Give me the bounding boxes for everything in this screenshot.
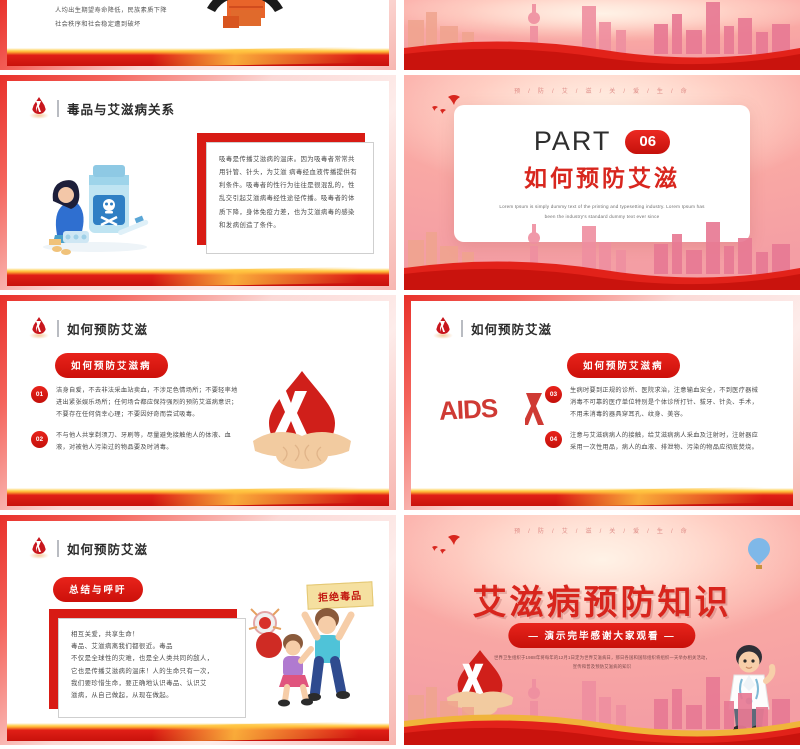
- header-divider: [57, 540, 59, 557]
- slide-header: 如何预防艾滋: [411, 301, 793, 339]
- header-divider: [461, 320, 463, 337]
- slide-part-06[interactable]: 预 / 防 / 艾 / 滋 / 关 / 爱 / 生 / 命 PART 06 如何…: [404, 75, 800, 290]
- summary-line: 毒品、艾滋病离我们都很近。毒品: [71, 641, 233, 653]
- section-pill-wrap: 如何预防艾滋病: [567, 353, 680, 378]
- summary-line: 不仅是全球性的灾难，也是全人类共同的敌人，: [71, 653, 233, 665]
- list-item[interactable]: 04 注意与艾滋病病人的接触，给艾滋病病人采血及注射时，注射器应采用一次性用品，…: [545, 430, 763, 454]
- numbered-list: 03 生病时要到正规的诊所、医院求治，注意输血安全，不到医疗器械消毒不可靠的医疗…: [545, 385, 763, 463]
- red-wave-decoration: [404, 256, 800, 290]
- final-pill: — 演示完毕感谢大家观看 —: [508, 623, 695, 648]
- red-wave-decoration: [404, 36, 800, 70]
- item-text: 不与他人共享剃须刀、牙刷等，尽量避免接触他人的体液、血液，对被他人污染过的物品要…: [56, 430, 241, 454]
- paragraph-box: 吸毒是传播艾滋病的温床。因为吸毒者常常共用针管、针头，为艾滋 病毒经血液传播提供…: [197, 133, 365, 245]
- section-pill: 如何预防艾滋病: [55, 353, 168, 378]
- item-text: 生病时要到正规的诊所、医院求治，注意输血安全，不到医疗器械消毒不可靠的医疗单位特…: [570, 385, 763, 421]
- list-item[interactable]: 03 生病时要到正规的诊所、医院求治，注意输血安全，不到医疗器械消毒不可靠的医疗…: [545, 385, 763, 421]
- slide-header: 如何预防艾滋: [7, 301, 389, 339]
- slide-prevent-1[interactable]: 如何预防艾滋 如何预防艾滋病 01 洁身自爱，不去非法采血站卖血，不涉足色情场所…: [0, 295, 396, 510]
- aids-word-ribbon-icon: AIDS: [439, 393, 549, 433]
- list-item[interactable]: 01 洁身自爱，不去非法采血站卖血，不涉足色情场所；不要轻率地进出紧张娱乐场所；…: [31, 385, 241, 421]
- part-heading-row: PART 06: [534, 126, 670, 157]
- part-word: PART: [534, 126, 612, 157]
- slide-cut-top-right[interactable]: [404, 0, 800, 70]
- slide-summary[interactable]: 如何预防艾滋 总结与呼吁 相互关爱，共享生命！ 毒品、艾滋病离我们都很近。毒品 …: [0, 515, 396, 745]
- section-pill: 如何预防艾滋病: [567, 353, 680, 378]
- slide-body: 毒品与艾滋病关系: [7, 81, 389, 286]
- red-ribbon-icon: [433, 317, 453, 339]
- slide-body: 如何预防艾滋 总结与呼吁 相互关爱，共享生命！ 毒品、艾滋病离我们都很近。毒品 …: [7, 521, 389, 741]
- final-title: 艾滋病预防知识: [404, 575, 800, 624]
- part-subtitle: 如何预防艾滋: [524, 159, 680, 193]
- kids-figures-icon: [235, 583, 375, 713]
- summary-text: 相互关爱，共享生命！ 毒品、艾滋病离我们都很近。毒品 不仅是全球性的灾难，也是全…: [58, 618, 246, 718]
- item-number: 04: [545, 431, 562, 448]
- list-item[interactable]: 02 不与他人共享剃须刀、牙刷等，尽量避免接触他人的体液、血液，对被他人污染过的…: [31, 430, 241, 454]
- numbered-list: 01 洁身自爱，不去非法采血站卖血，不涉足色情场所；不要轻率地进出紧张娱乐场所；…: [31, 385, 241, 463]
- section-pill-wrap: 总结与呼吁: [53, 577, 143, 602]
- summary-box: 相互关爱，共享生命！ 毒品、艾滋病离我们都很近。毒品 不仅是全球性的灾难，也是全…: [49, 609, 237, 709]
- slide-title: 如何预防艾滋: [471, 319, 552, 338]
- slide-body: 人均出生期望寿命降低，民族素质下降 社会秩序和社会稳定遭到破坏: [7, 0, 389, 66]
- slide-drugs-aids-relation[interactable]: 毒品与艾滋病关系: [0, 75, 396, 290]
- red-ribbon-icon: [29, 97, 49, 119]
- section-pill-wrap: 如何预防艾滋病: [55, 353, 168, 378]
- summary-line: 滋病，从自己做起，从现在做起。: [71, 690, 233, 702]
- birds-icon: [426, 533, 486, 555]
- hot-air-balloon-icon: [746, 537, 772, 571]
- item-text: 注意与艾滋病病人的接触，给艾滋病病人采血及注射时，注射器应采用一次性用品，病人的…: [570, 430, 763, 454]
- slide-title: 如何预防艾滋: [67, 539, 148, 558]
- red-wave-decoration: [404, 711, 800, 745]
- kids-refuse-drugs-illustration: 拒绝毒品: [235, 583, 375, 713]
- slide-cut-top-left[interactable]: 人均出生期望寿命降低，民族素质下降 社会秩序和社会稳定遭到破坏: [0, 0, 396, 70]
- header-divider: [57, 100, 59, 117]
- slide-body: 如何预防艾滋 如何预防艾滋病 01 洁身自爱，不去非法采血站卖血，不涉足色情场所…: [7, 301, 389, 506]
- slide-header: 毒品与艾滋病关系: [7, 81, 389, 119]
- summary-line: 相互关爱，共享生命！: [71, 629, 233, 641]
- broken-brick-wall-icon: [203, 0, 287, 38]
- slide-body: 如何预防艾滋 如何预防艾滋病 03 生病时要到正规的诊所、医院求治，注意输血安全…: [411, 301, 793, 506]
- final-note: 世界卫生组织于1988年将每年的12月1日定为世界艾滋病日，那日各国和国际组织将…: [494, 653, 710, 671]
- paragraph-text: 吸毒是传播艾滋病的温床。因为吸毒者常常共用针管、针头，为艾滋 病毒经血液传播提供…: [206, 142, 374, 254]
- hands-holding-red-ribbon-drop-icon: [243, 363, 361, 473]
- item-text: 洁身自爱，不去非法采血站卖血，不涉足色情场所；不要轻率地进出紧张娱乐场所；任何场…: [56, 385, 241, 421]
- header-divider: [57, 320, 59, 337]
- item-number: 02: [31, 431, 48, 448]
- ribbon-glyph-icon: [525, 391, 547, 425]
- red-ribbon-icon: [29, 317, 49, 339]
- item-number: 01: [31, 386, 48, 403]
- slide-grid: 人均出生期望寿命降低，民族素质下降 社会秩序和社会稳定遭到破坏: [0, 0, 800, 749]
- slide-thumbnail-grid-page: 人均出生期望寿命降低，民族素质下降 社会秩序和社会稳定遭到破坏: [0, 0, 800, 749]
- slide-prevent-2[interactable]: 如何预防艾滋 如何预防艾滋病 03 生病时要到正规的诊所、医院求治，注意输血安全…: [404, 295, 800, 510]
- summary-line: 它也是传播艾滋病的温床！人的生命只有一次，: [71, 666, 233, 678]
- summary-line: 我们要珍惜生命，要正确地认识毒品、认识艾: [71, 678, 233, 690]
- slide-header: 如何预防艾滋: [7, 521, 389, 559]
- section-pill: 总结与呼吁: [53, 577, 143, 602]
- slide-thanks[interactable]: 预 / 防 / 艾 / 滋 / 关 / 爱 / 生 / 命 艾滋病预防知识 — …: [404, 515, 800, 745]
- part-number: 06: [625, 130, 670, 154]
- slide-title: 毒品与艾滋病关系: [67, 99, 175, 118]
- red-ribbon-icon: [29, 537, 49, 559]
- slide-title: 如何预防艾滋: [67, 319, 148, 338]
- cut-text-block: 人均出生期望寿命降低，民族素质下降 社会秩序和社会稳定遭到破坏: [7, 0, 389, 33]
- sad-person-pill-bottle-icon: [35, 139, 155, 259]
